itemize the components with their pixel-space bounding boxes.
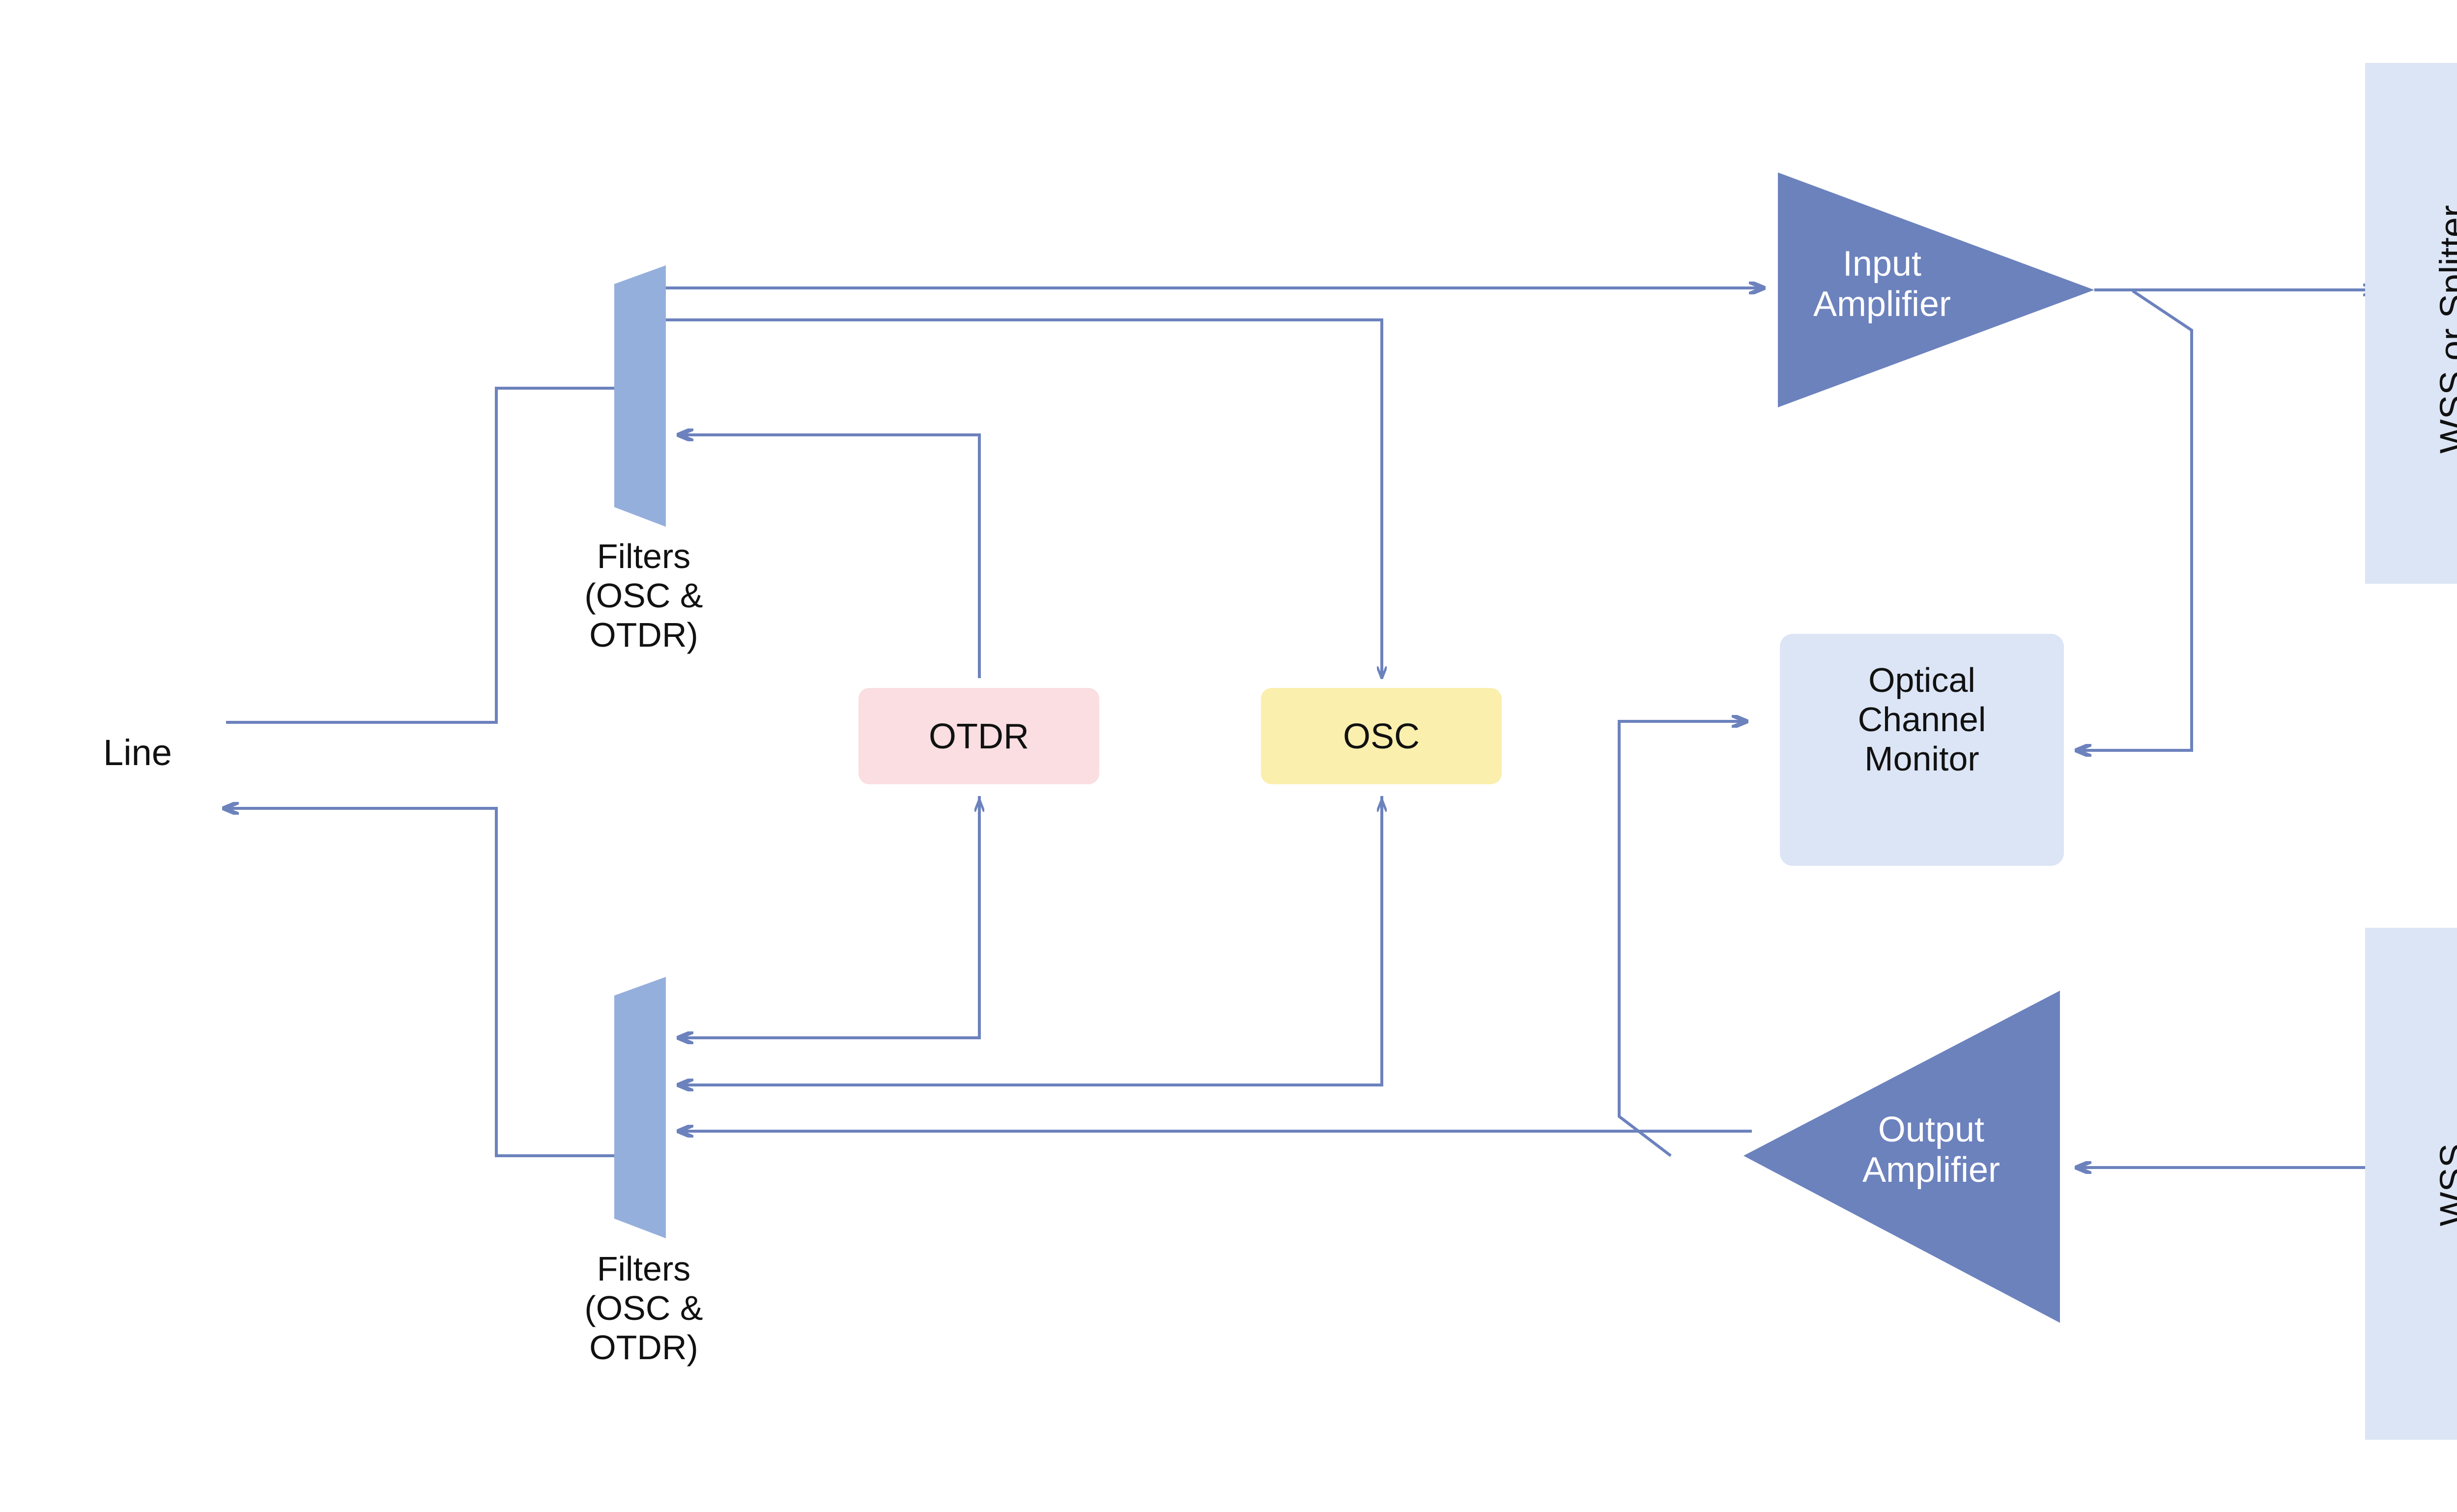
connector-otdr-to-bottom-filter <box>678 796 979 1038</box>
connector-bottom-filter-to-line <box>224 808 618 1156</box>
input-amplifier-label: Input Amplifier <box>1749 244 2015 324</box>
connector-osc-to-bottom-filter <box>678 796 1382 1085</box>
optical-channel-monitor-label: Optical Channel Monitor <box>1780 661 2064 778</box>
connector-input-tap-to-ocm <box>2076 291 2192 750</box>
line-port-label: Line <box>59 732 216 773</box>
filter-bottom-label: Filters (OSC & OTDR) <box>506 1250 781 1367</box>
otdr-label: OTDR <box>858 716 1099 757</box>
roadm-block-diagram <box>0 0 2457 1512</box>
wss-or-splitter-label: WSS or Splitter <box>2432 69 2457 590</box>
filter-bottom-shape <box>614 977 666 1238</box>
connector-output-tap-to-ocm <box>1619 721 1747 1156</box>
filter-top-label: Filters (OSC & OTDR) <box>506 537 781 655</box>
osc-label: OSC <box>1261 716 1502 757</box>
filter-top-shape <box>614 265 666 527</box>
output-amplifier-label: Output Amplifier <box>1799 1110 2064 1190</box>
wss-label: WSS <box>2432 929 2457 1441</box>
diagram-canvas: Line Filters (OSC & OTDR) Filters (OSC &… <box>0 0 2457 1512</box>
